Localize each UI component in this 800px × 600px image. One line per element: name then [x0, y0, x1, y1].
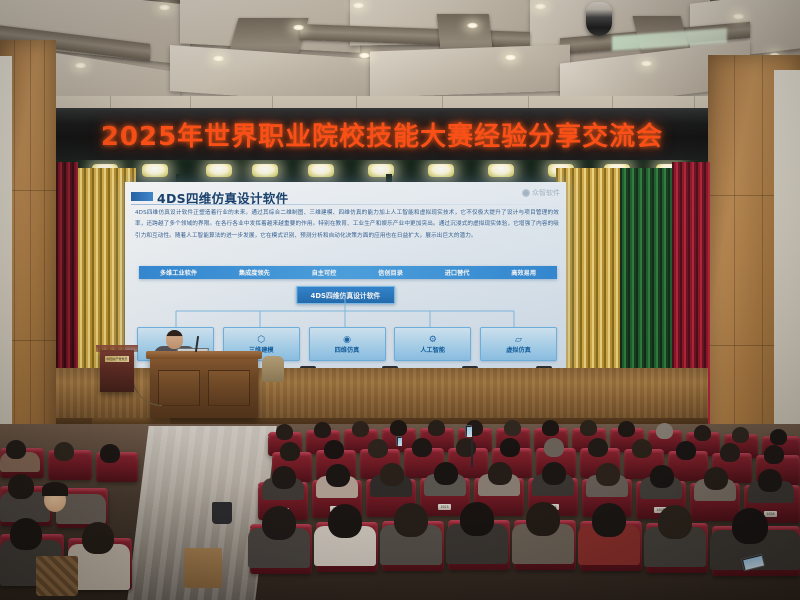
audience-head	[352, 421, 369, 437]
audience-head	[326, 464, 350, 487]
capability-card: ◉ 四维仿真	[309, 327, 386, 361]
audience-head	[328, 504, 362, 538]
secondary-lectern: 中国共产党党员	[100, 350, 134, 392]
phone-screen	[398, 438, 403, 446]
audience-head	[618, 421, 635, 437]
audience-head	[504, 420, 521, 436]
audience-head	[720, 443, 740, 462]
capability-card-label: 虚拟仿真	[506, 345, 531, 354]
audience-head	[542, 462, 566, 485]
presentation-screen: 4DS四维仿真设计软件 众智软件 4DS四维仿真设计软件正塑造着行业的未来。通过…	[125, 182, 566, 368]
audience-head	[8, 474, 34, 499]
audience-head	[42, 482, 68, 496]
led-banner: 2025年世界职业院校技能大赛经验分享交流会	[56, 108, 708, 160]
vendor-logo-icon	[522, 189, 530, 197]
vendor-logo-text: 众智软件	[532, 188, 560, 198]
audience-head	[324, 440, 344, 459]
feature-tag: 自主可控	[312, 268, 337, 277]
audience-head	[100, 444, 120, 463]
lectern-top	[96, 345, 138, 352]
audience-head	[770, 429, 787, 445]
audience-head	[732, 427, 749, 443]
lectern-sign: 中国共产党党员	[105, 356, 129, 362]
speaker-podium	[150, 356, 258, 418]
stage-chair	[262, 356, 284, 382]
audience-head	[460, 502, 494, 536]
feature-tag: 集成度领先	[239, 268, 270, 277]
seat-number-plate: 1623	[438, 504, 451, 510]
audience-head	[542, 420, 559, 436]
audience-head	[526, 502, 560, 536]
seat-number-plate: 1626	[764, 511, 777, 517]
dome-security-camera-icon	[586, 2, 612, 36]
audience-head	[262, 506, 296, 540]
audience-head	[676, 441, 696, 460]
auditorium-photo: 2025年世界职业院校技能大赛经验分享交流会 4DS四维仿真设计软件 众智软件	[0, 0, 800, 600]
audience-head	[658, 505, 692, 539]
audience-head	[656, 423, 673, 439]
audience-head	[390, 420, 407, 436]
feature-tag: 进口替代	[445, 268, 470, 277]
tote-bag	[184, 548, 222, 588]
audience-head	[588, 438, 608, 457]
audience-head	[434, 462, 458, 485]
audience-head	[732, 508, 768, 544]
phone-screen	[467, 427, 472, 437]
backpack	[212, 502, 232, 524]
audience-head	[380, 463, 404, 486]
slide-title-accent-bar	[131, 192, 153, 201]
feature-tag: 信创目录	[378, 268, 403, 277]
phone-tripod	[471, 437, 473, 467]
audience-head	[580, 420, 597, 436]
banner-title-text: 2025年世界职业院校技能大赛经验分享交流会	[101, 116, 663, 153]
audience-head	[488, 462, 512, 485]
audience-head	[632, 439, 652, 458]
ai-brain-icon: ⚙	[429, 335, 437, 344]
audience-head	[650, 465, 674, 488]
simulation-icon: ◉	[343, 335, 351, 344]
audience-head	[428, 420, 445, 436]
cube-model-icon: ⬡	[257, 335, 265, 344]
capability-card: ▱ 虚拟仿真	[480, 327, 557, 361]
audience-head	[764, 445, 784, 464]
audience-head	[500, 438, 520, 457]
capability-card-label: 人工智能	[420, 345, 445, 354]
audience-head	[592, 503, 626, 537]
audience-head	[412, 438, 432, 457]
audience-head	[272, 466, 296, 489]
audience-head	[456, 438, 476, 457]
recording-phone	[465, 425, 472, 437]
audience-head	[54, 442, 74, 461]
podium-top	[146, 351, 262, 359]
presenter-head	[166, 330, 183, 349]
feature-tag: 多维工业软件	[160, 268, 197, 277]
audience-phone	[396, 436, 402, 446]
audience-head	[368, 439, 388, 458]
audience-head	[82, 522, 114, 554]
audience-head	[544, 438, 564, 457]
audience-head	[10, 518, 42, 550]
slide-body-paragraph: 4DS四维仿真设计软件正塑造着行业的未来。通过其综合二维制图、三维建模、四维仿真…	[135, 208, 559, 242]
audience-head	[694, 425, 711, 441]
left-light-wall	[0, 56, 12, 456]
podium-panel	[158, 370, 200, 406]
audience-head	[758, 469, 782, 492]
capability-card: ⚙ 人工智能	[394, 327, 471, 361]
vendor-logo: 众智软件	[522, 188, 560, 198]
audience-head	[394, 503, 428, 537]
audience-head	[280, 442, 300, 461]
slide-title-rule	[131, 204, 559, 205]
audience-head	[314, 422, 331, 438]
right-light-wall	[774, 70, 800, 462]
slide-feature-tagbar: 多维工业软件 集成度领先 自主可控 信创目录 进口替代 高效易用	[139, 266, 557, 279]
capability-card-label: 四维仿真	[335, 345, 360, 354]
audience-head	[704, 467, 728, 490]
podium-panel	[208, 370, 250, 406]
handbag	[36, 556, 78, 596]
audience-head	[6, 440, 26, 459]
audience-head	[596, 463, 620, 486]
vr-headset-icon: ▱	[515, 335, 522, 344]
feature-tag: 高效易用	[511, 268, 536, 277]
audience-head	[276, 424, 293, 440]
